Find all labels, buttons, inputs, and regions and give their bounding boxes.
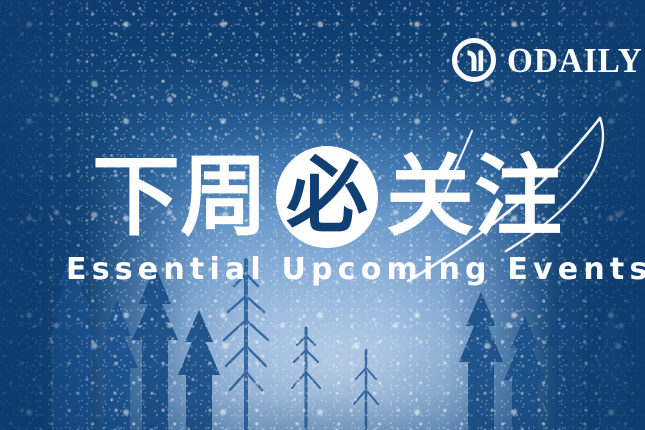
banner-root: ODAILY 下周 必 关注 Essential Upcoming Events — [0, 0, 645, 430]
odaily-circle-mark-icon — [452, 38, 496, 82]
title-badge-circle: 必 — [276, 146, 378, 248]
title-badge-char: 必 — [286, 156, 368, 238]
page-title: 下周 必 关注 — [92, 146, 562, 248]
title-suffix: 关注 — [386, 153, 562, 241]
odaily-logo[interactable]: ODAILY — [452, 38, 645, 82]
title-prefix: 下周 — [92, 153, 268, 241]
odaily-wordmark: ODAILY — [507, 43, 643, 78]
page-subtitle: Essential Upcoming Events — [66, 255, 645, 285]
